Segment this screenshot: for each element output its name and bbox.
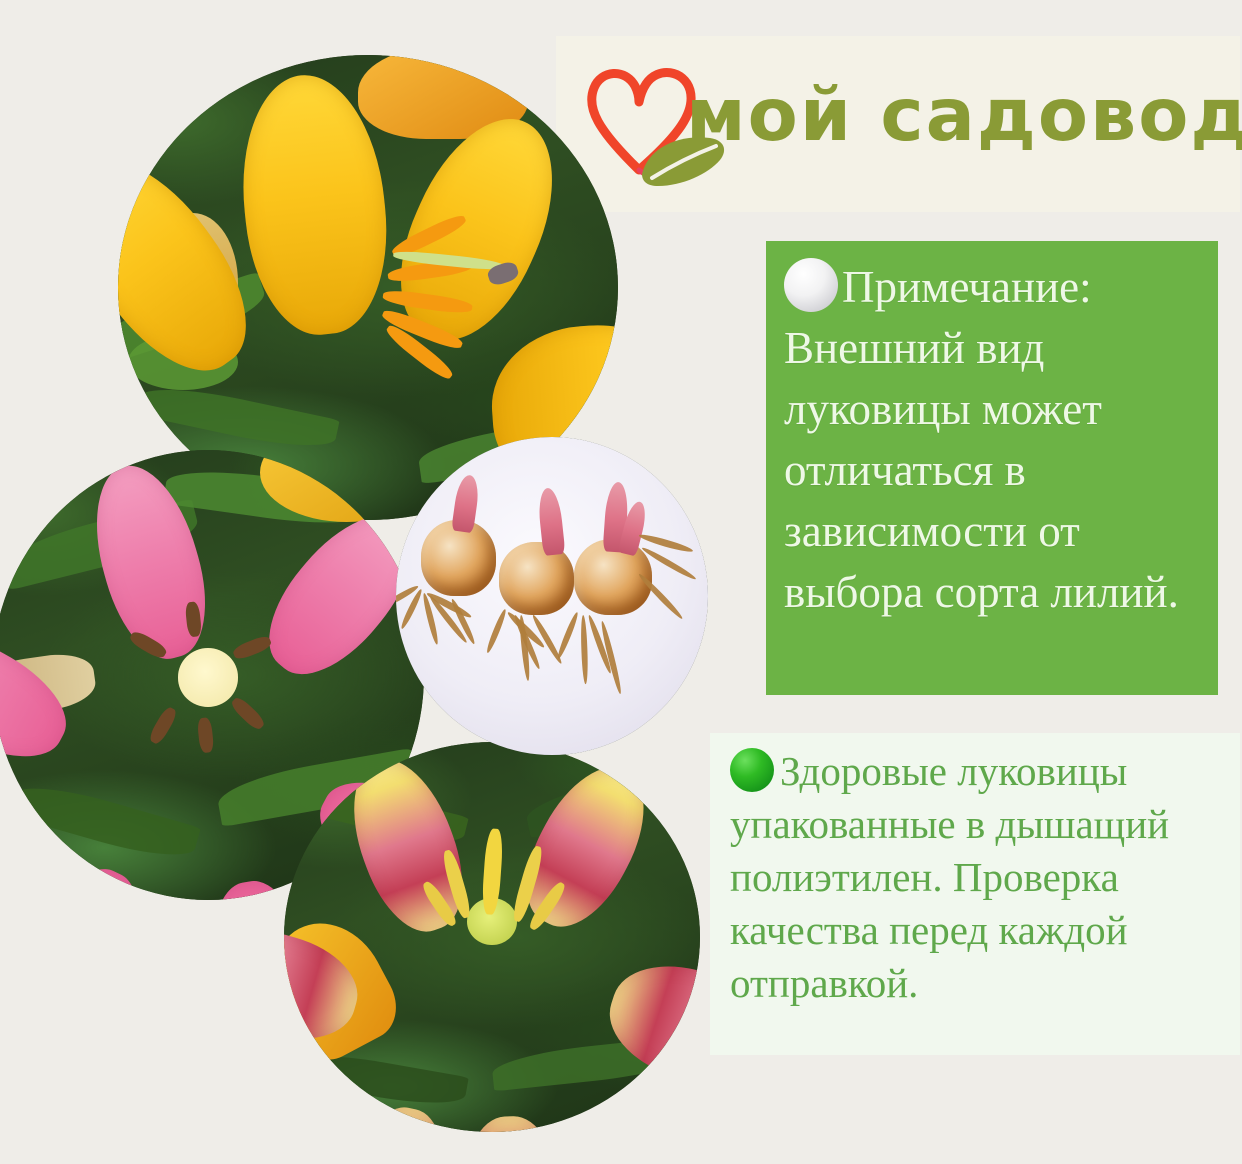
health-box: Здоровые луковицы упакованные в дышащий … — [710, 733, 1240, 1055]
green-circle-bullet-icon — [730, 748, 774, 792]
note-text: Примечание: Внешний вид луковицы может о… — [784, 262, 1179, 617]
promo-canvas: мой садовод — [0, 0, 1242, 1164]
photo-lily-bulbs — [396, 437, 708, 755]
photo-bicolor-lily — [284, 742, 700, 1132]
note-text-block: Примечание: Внешний вид луковицы может о… — [784, 257, 1204, 623]
health-text: Здоровые луковицы упакованные в дышащий … — [730, 748, 1169, 1006]
health-text-block: Здоровые луковицы упакованные в дышащий … — [730, 745, 1230, 1010]
note-box: Примечание: Внешний вид луковицы может о… — [766, 241, 1218, 695]
brand-logo: мой садовод — [556, 36, 1240, 212]
brand-wordmark: мой садовод — [686, 66, 1242, 166]
white-circle-bullet-icon — [784, 258, 838, 312]
